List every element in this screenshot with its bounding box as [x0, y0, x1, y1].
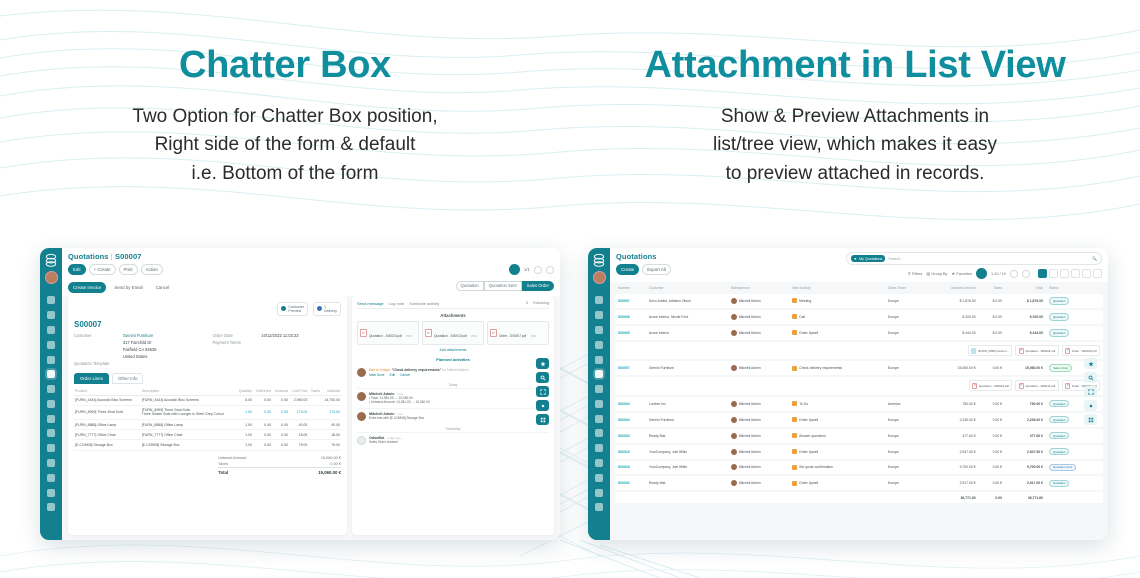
status-badge: Quotation: [1049, 416, 1070, 424]
footer-total: 36,771.60: [1005, 492, 1046, 502]
activity-line: Due in 4 days: "Check delivery requireme…: [369, 368, 469, 372]
workflow-row: Create Invoice Send by Email Cancel Quot…: [68, 279, 554, 293]
sidebar-icon-contacts[interactable]: [595, 341, 603, 349]
send-by-email-button[interactable]: Send by Email: [109, 282, 147, 293]
attachment-chip[interactable]: P Quotation - S00010.pdf PDF: [422, 321, 484, 345]
cell-description: [FURN_8888] Office Lamp: [141, 419, 236, 429]
list-view-icon[interactable]: [1038, 269, 1047, 278]
cell-number: S00007: [615, 361, 646, 375]
sidebar-icon-crm[interactable]: [595, 356, 603, 364]
status-badge: Quotation: [1049, 313, 1070, 321]
search-icon[interactable]: [1084, 372, 1097, 383]
chatter-actions: Send message Log note Schedule activity: [357, 301, 439, 306]
settings-gear-icon[interactable]: [976, 268, 987, 279]
cell-taxes: 0.00 €: [979, 461, 1005, 475]
cell-untaxed: 2,917.00 €: [925, 476, 978, 490]
attachment-name: Quotation - S00010.pdf: [434, 334, 467, 338]
cell-next-activity: Meeting: [789, 294, 885, 308]
col-invoiced[interactable]: Invoiced: [272, 387, 289, 396]
col-subtotal[interactable]: Subtotal: [321, 387, 341, 396]
cell-number: S00004: [615, 413, 646, 427]
grid-icon[interactable]: [536, 414, 549, 425]
pdf-icon: P: [972, 383, 977, 389]
create-invoice-button[interactable]: Create Invoice: [68, 282, 106, 293]
filters-button[interactable]: ⚲Filters: [908, 271, 923, 276]
attachment-type: PDF: [471, 334, 477, 338]
cell-quantity: 1.00: [236, 405, 253, 419]
col-number[interactable]: Number: [615, 284, 646, 292]
edit-button[interactable]: Edit: [68, 264, 86, 275]
create-button[interactable]: Create: [616, 264, 639, 275]
field-customer: Customer Gemini Furniture: [74, 333, 202, 338]
avatar: [357, 392, 366, 401]
attachment-name: [FURN_0096] Custom...: [978, 349, 1009, 353]
tab-other-info[interactable]: Other Info: [112, 373, 144, 384]
col-quantity[interactable]: Quantity: [236, 387, 253, 396]
cell-product: [FURN_4444] Acoustic Bloc Screens: [74, 395, 141, 405]
table-row[interactable]: S00003Ready MatMitchell AdminAnswer ques…: [615, 429, 1103, 443]
footer-spacer: [615, 492, 925, 502]
status-quotation[interactable]: Quotation: [456, 281, 484, 292]
cell-status: Quotation: [1046, 429, 1103, 443]
thread-day-separator: Today: [357, 380, 549, 388]
cell-taxes: $ 0.00: [979, 326, 1005, 340]
status-badge: Quotation: [1049, 448, 1070, 456]
avatar: [731, 298, 737, 304]
sidebar-icon-sales[interactable]: [595, 370, 603, 378]
total-value: 15,060.00 €: [318, 470, 341, 475]
cell-invoiced: 0.00: [272, 395, 289, 405]
cell-sales-team: Europe: [885, 361, 925, 375]
create-button[interactable]: + Create: [89, 264, 116, 275]
breadcrumb: Quotations: [616, 252, 840, 261]
list-button-row: Create Export All: [616, 264, 840, 275]
fullscreen-icon[interactable]: [536, 386, 549, 397]
cell-taxes: 0.00 €: [979, 361, 1005, 375]
field-address-1: 317 Fairchild Dr: [74, 340, 202, 345]
cell-untaxed: 750.00 €: [925, 397, 978, 411]
attachment-chip[interactable]: PQuotation - S00022.pdf: [1015, 345, 1058, 356]
sidebar-icon-home[interactable]: [595, 296, 603, 304]
table-row[interactable]: S00016YourCompany, Joel WillisMitchell A…: [615, 461, 1103, 475]
cell-sales-team: Europe: [885, 461, 925, 475]
sidebar-icon-settings[interactable]: [47, 503, 55, 511]
cell-subtotal: 14,750.00: [321, 395, 341, 405]
attachment-chip[interactable]: P Order - S00007.pdf PDF: [487, 321, 549, 345]
chatter-message: Mitchell Adminnow• Total: 14,981.00 → 15…: [357, 388, 549, 409]
chatter-message: Mitchell AdminnowExtra line with [E-COM0…: [357, 408, 549, 424]
settings-icon[interactable]: [536, 400, 549, 411]
smart-button-customer-preview[interactable]: Customer Preview: [277, 302, 308, 316]
add-attachments-button[interactable]: Add attachments: [357, 348, 549, 352]
cell-salesperson: Mitchell Admin: [728, 445, 789, 459]
cell-description: [FURN_7777] Office Chair: [141, 430, 236, 440]
sidebar-icon-inventory[interactable]: [595, 400, 603, 408]
followers-count[interactable]: 3: [526, 301, 528, 305]
col-delivered[interactable]: Delivered: [253, 387, 272, 396]
cell-subtotal: 79.00: [321, 440, 341, 450]
col-next-activity[interactable]: Next Activity: [789, 284, 885, 292]
attachment-chip[interactable]: [FURN_0096] Custom...: [968, 345, 1012, 356]
cell-sales-team: Europe: [885, 413, 925, 427]
cell-product: [E-COM08] Storage Box: [74, 440, 141, 450]
activity-summary: "Check delivery requirements": [392, 368, 442, 372]
attachment-chip[interactable]: POrder - S00015.pdf: [1062, 345, 1100, 356]
field-label: [74, 347, 123, 352]
cell-salesperson: Mitchell Admin: [728, 429, 789, 443]
page-subtitle-left: Two Option for Chatter Box position, Rig…: [0, 103, 570, 189]
cell-untaxed: 2,245.00 €: [925, 413, 978, 427]
sidebar-icon-inventory[interactable]: [47, 400, 55, 408]
table-row[interactable]: S00002Ready MatMitchell AdminOrder Upsel…: [615, 476, 1103, 490]
smart-button-delivery[interactable]: 1 Delivery: [313, 302, 341, 316]
cell-description: [E-COM08] Storage Box: [141, 440, 236, 450]
list-control-panel: Quotations Create Export All ▼ My Quotat…: [610, 248, 1108, 282]
table-row[interactable]: [FURN_4444] Acoustic Bloc Screens[FURN_4…: [74, 395, 341, 405]
odoo-logo-icon: [43, 252, 59, 268]
pager-next-button[interactable]: [546, 266, 554, 274]
col-description[interactable]: Description: [141, 387, 236, 396]
sidebar-icon-website[interactable]: [47, 444, 55, 452]
avatar[interactable]: [45, 271, 58, 284]
sidebar-icon-crm[interactable]: [47, 356, 55, 364]
field-label: Payment Terms: [212, 340, 261, 345]
upsell-icon: [792, 417, 797, 422]
avatar[interactable]: [593, 271, 606, 284]
user-circle-icon: [281, 306, 286, 311]
attachment-chip[interactable]: PQuotation - S00023.pdf: [969, 380, 1012, 391]
cell-salesperson: Mitchell Admin: [728, 476, 789, 490]
page-title-right: Attachment in List View: [570, 44, 1140, 87]
attachment-name: Quotation - S00010.pdf: [1025, 384, 1055, 388]
cell-customer: Deco Addict, Addison Olson: [646, 294, 728, 308]
field-grid: Customer Gemini Furniture 317 Fairchild …: [74, 333, 341, 368]
table-row[interactable]: S00004Gemini FurnitureMitchell AdminOrde…: [615, 413, 1103, 427]
chatter-toolbar: Send message Log note Schedule activity …: [357, 301, 549, 309]
smart-button-label: Customer Preview: [288, 305, 304, 313]
chatter-followers: 3 Following: [526, 301, 549, 305]
field-address-3: United States: [74, 354, 202, 359]
filters-label: Filters: [912, 272, 922, 276]
cell-total: 750.00 €: [1005, 397, 1046, 411]
table-header-row: Number Customer Salesperson Next Activit…: [615, 284, 1103, 292]
grid-icon[interactable]: [1084, 414, 1097, 425]
odoo-logo-icon: [591, 252, 607, 268]
field-value: Fairfield CA 94535: [123, 347, 157, 352]
status-badge: Quotation: [1049, 400, 1070, 408]
cell-quantity: 5.00: [236, 395, 253, 405]
cell-next-activity: To Do: [789, 397, 885, 411]
pdf-icon: P: [1065, 383, 1070, 389]
sidebar-icon-apps[interactable]: [595, 489, 603, 497]
floating-toolbar-right: [1084, 358, 1097, 425]
status-badge: Quotation: [1049, 329, 1070, 337]
avatar: [731, 314, 737, 320]
status-quotation-sent[interactable]: Quotation Sent: [484, 281, 522, 292]
sidebar-icon-manufacturing[interactable]: [47, 415, 55, 423]
sidebar-icon-employees[interactable]: [47, 459, 55, 467]
table-row[interactable]: [FURN_8999] Three-Seat Sofa[FURN_8999] T…: [74, 405, 341, 419]
cell-total: 9,700.00 €: [1005, 461, 1046, 475]
cell-number: S00003: [615, 429, 646, 443]
col-product[interactable]: Product: [74, 387, 141, 396]
cell-total: $ 1,876.00: [1005, 294, 1046, 308]
cell-taxes: 0.00 €: [979, 429, 1005, 443]
tab-order-lines[interactable]: Order Lines: [74, 373, 109, 384]
cell-delivered: 0.00: [253, 395, 272, 405]
cell-taxes: [308, 405, 321, 419]
app-sidebar-right[interactable]: [588, 248, 610, 540]
attachment-type: PDF: [406, 334, 412, 338]
attachment-chip[interactable]: PQuotation - S00010.pdf: [1015, 380, 1058, 391]
cell-customer: Ready Mat: [646, 429, 728, 443]
edit-activity-button[interactable]: Edit: [390, 373, 396, 377]
following-button[interactable]: Following: [533, 301, 549, 305]
star-icon[interactable]: [536, 358, 549, 369]
cell-sales-team: Europe: [885, 326, 925, 340]
star-icon: ★: [951, 271, 954, 276]
quotations-table: Number Customer Salesperson Next Activit…: [615, 282, 1103, 505]
field-order-date: Order Date 10/12/2022 11:02:23: [212, 333, 340, 338]
settings-gear-icon[interactable]: [509, 264, 520, 275]
status-badge: Sales Order: [1049, 364, 1072, 372]
group-by-button[interactable]: ▤Group By: [926, 271, 947, 276]
cell-salesperson: Mitchell Admin: [728, 361, 789, 375]
field-quotation-template: Quotation Template: [74, 361, 202, 366]
floating-toolbar-left: [536, 358, 549, 425]
attachment-chip[interactable]: P Quotation - S00023.pdf PDF: [357, 321, 419, 345]
attachment-name: Order - S00015.pdf: [1072, 349, 1097, 353]
field-value[interactable]: 10/12/2022 11:02:23: [261, 333, 298, 338]
sidebar-icon-purchase[interactable]: [47, 429, 55, 437]
col-taxes[interactable]: Taxes: [308, 387, 321, 396]
upsell-icon: [792, 481, 797, 486]
kanban-view-icon[interactable]: [1049, 269, 1058, 278]
cell-taxes: 0.00 €: [979, 445, 1005, 459]
status-sales-order[interactable]: Sales Order: [522, 281, 554, 292]
action-button[interactable]: Action: [141, 264, 163, 275]
message-body: • Total: 14,981.00 → 15,060.00 • Untaxed…: [369, 396, 430, 406]
sidebar-icon-settings[interactable]: [595, 503, 603, 511]
screenshot-list-view: Quotations Create Export All ▼ My Quotat…: [588, 248, 1108, 540]
activity-item: Due in 4 days: "Check delivery requireme…: [357, 365, 549, 380]
sidebar-icon-purchase[interactable]: [595, 429, 603, 437]
attachment-name: Quotation - S00023.pdf: [979, 384, 1009, 388]
cell-taxes: [308, 430, 321, 440]
cell-number: S00019: [615, 445, 646, 459]
sidebar-icon-calendar[interactable]: [47, 326, 55, 334]
cell-delivered: 0.00: [253, 405, 272, 419]
pdf-icon: P: [1065, 348, 1070, 354]
list-body: Number Customer Salesperson Next Activit…: [610, 282, 1108, 540]
total-label: Taxes: [218, 462, 228, 466]
sidebar-icon-invoicing[interactable]: [595, 385, 603, 393]
cell-status: Quotation: [1046, 294, 1103, 308]
pdf-icon: P: [490, 329, 497, 337]
settings-icon[interactable]: [1084, 400, 1097, 411]
table-row[interactable]: S00007Deco Addict, Addison OlsonMitchell…: [615, 294, 1103, 308]
cell-next-activity: Order Upsell: [789, 476, 885, 490]
col-unit-price[interactable]: Unit Price: [289, 387, 308, 396]
field-label: [74, 340, 123, 345]
col-salesperson[interactable]: Salesperson: [728, 284, 789, 292]
avatar: [731, 464, 737, 470]
activity-view-icon[interactable]: [1093, 269, 1102, 278]
calendar-view-icon[interactable]: [1060, 269, 1069, 278]
footer-taxes: 0.00: [979, 492, 1005, 502]
graph-view-icon[interactable]: [1082, 269, 1091, 278]
cell-invoiced: 0.00: [272, 405, 289, 419]
message-body: Extra line with [E-COM08] Storage Box: [369, 416, 424, 421]
log-note-button[interactable]: Log note: [389, 301, 405, 306]
cell-taxes: 0.00 €: [979, 413, 1005, 427]
cell-untaxed: 377.60 €: [925, 429, 978, 443]
cell-next-activity: Answer questions: [789, 429, 885, 443]
cell-subtotal: 40.00: [321, 419, 341, 429]
promo-column-right: Attachment in List View Show & Preview A…: [570, 0, 1140, 188]
screenshot-form-view: Quotations | S00007 Edit + Create Print …: [40, 248, 560, 540]
search-icon[interactable]: 🔍: [1092, 256, 1097, 261]
mark-done-button[interactable]: Mark Done: [369, 373, 385, 377]
send-message-button[interactable]: Send message: [357, 301, 384, 306]
table-footer-row: 36,771.60 0.00 36,771.60: [615, 492, 1103, 502]
thread-day-separator: Yesterday: [357, 424, 549, 432]
cell-status: Quotation: [1046, 310, 1103, 324]
cell-salesperson: Mitchell Admin: [728, 413, 789, 427]
col-total[interactable]: Total: [1005, 284, 1046, 292]
avatar: [731, 365, 737, 371]
attachment-preview-row: [FURN_0096] Custom...PQuotation - S00022…: [615, 342, 1103, 359]
cell-number: S00005: [615, 326, 646, 340]
print-button[interactable]: Print: [119, 264, 138, 275]
cell-subtotal: 18.00: [321, 430, 341, 440]
cell-customer: Gemini Furniture: [646, 361, 728, 375]
favorites-button[interactable]: ★Favorites: [951, 271, 972, 276]
col-taxes[interactable]: Taxes: [979, 284, 1005, 292]
cell-taxes: 0.00 €: [979, 476, 1005, 490]
status-badge: Quotation: [1049, 432, 1070, 440]
sidebar-icon-calendar[interactable]: [595, 326, 603, 334]
cell-taxes: [308, 395, 321, 405]
sidebar-icon-apps[interactable]: [47, 489, 55, 497]
pdf-icon: P: [1019, 348, 1024, 354]
cell-delivered: 0.00: [253, 440, 272, 450]
avatar: [357, 368, 366, 377]
cell-next-activity: Check delivery requirements: [789, 361, 885, 375]
cell-unit-price: 18.00: [289, 430, 308, 440]
cancel-button[interactable]: Cancel: [151, 282, 175, 293]
confirm-icon: [792, 465, 797, 470]
field-label: [74, 354, 123, 359]
message-body: Sales Order created: [369, 440, 401, 445]
table-row[interactable]: [FURN_8888] Office Lamp[FURN_8888] Offic…: [74, 419, 341, 429]
cell-unit-price: 2,950.00: [289, 395, 308, 405]
sidebar-icon-contacts[interactable]: [47, 341, 55, 349]
message-time: now: [397, 392, 403, 396]
activity-assignee: for Mitchell Admin: [442, 368, 469, 372]
table-row[interactable]: S00004Lumber IncMitchell AdminTo DoAmeri…: [615, 397, 1103, 411]
cell-untaxed: $ 320.00: [925, 310, 978, 324]
table-row[interactable]: S00007Gemini FurnitureMitchell AdminChec…: [615, 361, 1103, 375]
col-sales-team[interactable]: Sales Team: [885, 284, 925, 292]
search-bar[interactable]: ▼ My Quotations Search... 🔍: [846, 252, 1102, 265]
field-column-left: Customer Gemini Furniture 317 Fairchild …: [74, 333, 202, 368]
sidebar-icon-home[interactable]: [47, 296, 55, 304]
status-badge: Quotation: [1049, 480, 1070, 488]
attachment-cell: PQuotation - S00023.pdfPQuotation - S000…: [615, 377, 1103, 394]
pdf-icon: P: [360, 329, 367, 337]
chatter-message: OdooBota day agoSales Order created: [357, 432, 549, 448]
table-row[interactable]: [E-COM08] Storage Box[E-COM08] Storage B…: [74, 440, 341, 450]
attachments-row: P Quotation - S00023.pdf PDF P Quotation…: [357, 321, 549, 345]
sidebar-icon-recruitment[interactable]: [595, 474, 603, 482]
table-row[interactable]: S00006Azure Interior, Nicole FordMitchel…: [615, 310, 1103, 324]
cell-salesperson: Mitchell Admin: [728, 294, 789, 308]
star-icon[interactable]: [1084, 358, 1097, 369]
sidebar-icon-website[interactable]: [595, 444, 603, 452]
cell-next-activity: Set quote confirmation: [789, 461, 885, 475]
pager-prev-button[interactable]: [534, 266, 542, 274]
fullscreen-icon[interactable]: [1084, 386, 1097, 397]
cell-delivered: 0.00: [253, 430, 272, 440]
avatar: [731, 417, 737, 423]
pivot-view-icon[interactable]: [1071, 269, 1080, 278]
table-row[interactable]: S00019YourCompany, Joel WillisMitchell A…: [615, 445, 1103, 459]
sidebar-icon-sales[interactable]: [47, 370, 55, 378]
search-input[interactable]: Search...: [888, 257, 1089, 261]
promo-headings: Chatter Box Two Option for Chatter Box p…: [0, 0, 1140, 188]
total-label: Untaxed Amount: [218, 456, 246, 460]
cell-quantity: 1.00: [236, 419, 253, 429]
total-label: Total: [218, 470, 228, 475]
group-icon: ▤: [926, 271, 930, 276]
sidebar-icon-discuss[interactable]: [47, 311, 55, 319]
search-icon[interactable]: [536, 372, 549, 383]
attachment-name: Order - S00007.pdf: [499, 334, 526, 338]
sidebar-icon-invoicing[interactable]: [47, 385, 55, 393]
cell-number: S00016: [615, 461, 646, 475]
pager-next-button[interactable]: [1022, 270, 1030, 278]
cancel-activity-button[interactable]: Cancel: [400, 373, 410, 377]
table-row[interactable]: S00005Azure InteriorMitchell AdminOrder …: [615, 326, 1103, 340]
cell-unit-price: 40.00: [289, 419, 308, 429]
breadcrumb-app[interactable]: Quotations: [68, 252, 109, 261]
cell-untaxed: 15,060.00 €: [925, 361, 978, 375]
sidebar-icon-recruitment[interactable]: [47, 474, 55, 482]
order-lines-body: [FURN_4444] Acoustic Bloc Screens[FURN_4…: [74, 395, 341, 450]
sidebar-icon-discuss[interactable]: [595, 311, 603, 319]
sidebar-icon-manufacturing[interactable]: [595, 415, 603, 423]
field-value: 317 Fairchild Dr: [123, 340, 152, 345]
meeting-icon: [792, 298, 797, 303]
cell-product: [FURN_8888] Office Lamp: [74, 419, 141, 429]
col-status[interactable]: Status: [1046, 284, 1103, 292]
favorites-label: Favorites: [956, 272, 972, 276]
schedule-activity-button[interactable]: Schedule activity: [409, 301, 439, 306]
footer-status: [1046, 492, 1103, 502]
table-row[interactable]: [FURN_7777] Office Chair[FURN_7777] Offi…: [74, 430, 341, 440]
export-all-button[interactable]: Export All: [642, 264, 671, 275]
app-sidebar-left[interactable]: [40, 248, 62, 540]
search-facet[interactable]: ▼ My Quotations: [851, 255, 886, 262]
pager-prev-button[interactable]: [1010, 270, 1018, 278]
cell-sales-team: Europe: [885, 429, 925, 443]
smart-button-label: 1 Delivery: [324, 305, 337, 313]
attachment-cell: [FURN_0096] Custom...PQuotation - S00022…: [615, 342, 1103, 359]
col-untaxed-amount[interactable]: Untaxed Amount: [925, 284, 978, 292]
sidebar-icon-employees[interactable]: [595, 459, 603, 467]
col-customer[interactable]: Customer: [646, 284, 728, 292]
